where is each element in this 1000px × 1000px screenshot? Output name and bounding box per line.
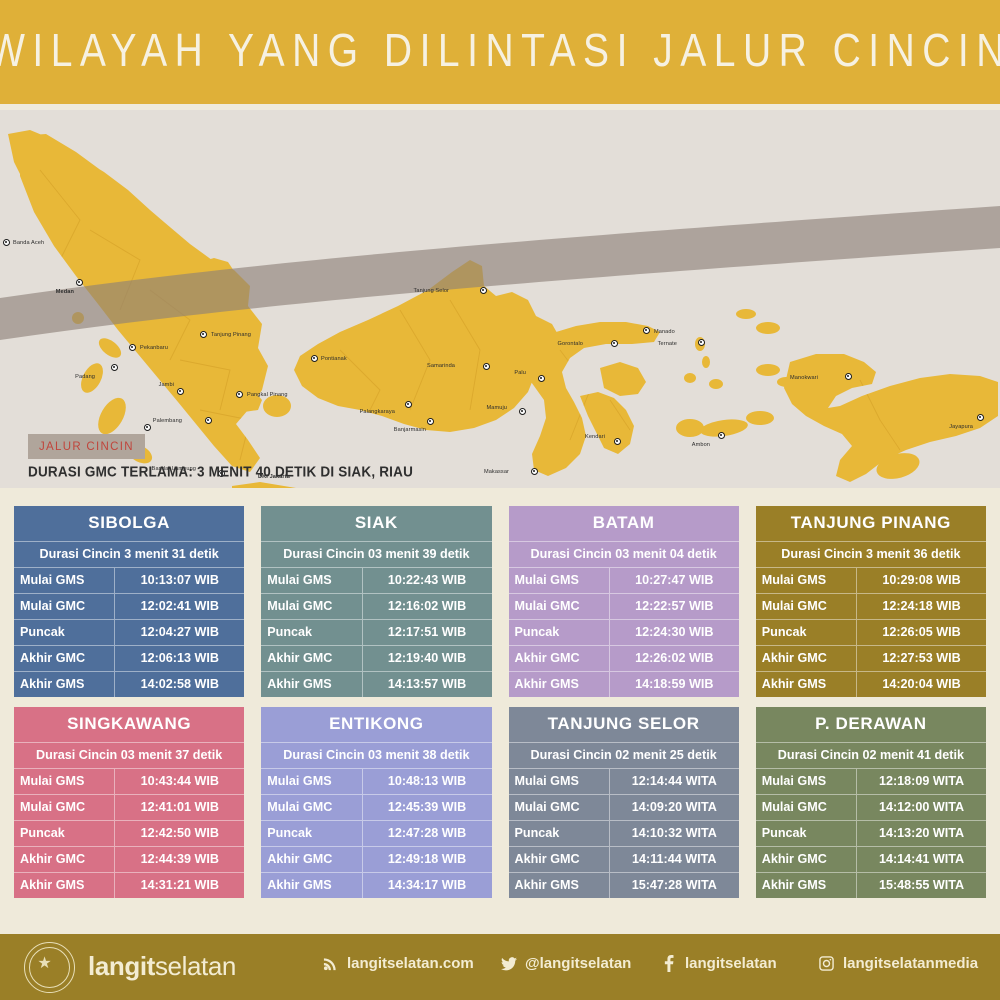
- city-timing-cards: SIBOLGADurasi Cincin 3 menit 31 detikMul…: [14, 506, 986, 898]
- table-row: Mulai GMS12:14:44 WITA: [509, 769, 739, 795]
- infographic-page: WILAYAH YANG DILINTASI JALUR CINCIN: [0, 0, 1000, 1000]
- table-row: Mulai GMC12:02:41 WIB: [14, 594, 244, 620]
- instagram-icon: [818, 955, 835, 972]
- row-label: Mulai GMS: [14, 568, 115, 593]
- city-pin: [177, 388, 184, 395]
- table-row: Mulai GMC14:12:00 WITA: [756, 795, 986, 821]
- city-pin: [538, 375, 545, 382]
- row-value: 14:20:04 WIB: [857, 672, 986, 697]
- city-pin: [519, 408, 526, 415]
- rss-icon: [322, 955, 339, 972]
- footer-link-facebook[interactable]: langitselatan: [660, 955, 777, 972]
- row-value: 12:17:51 WIB: [363, 620, 492, 645]
- row-label: Akhir GMS: [14, 672, 115, 697]
- row-value: 14:13:20 WITA: [857, 821, 986, 846]
- row-label: Akhir GMS: [756, 873, 857, 898]
- city-pin: [205, 417, 212, 424]
- page-header: WILAYAH YANG DILINTASI JALUR CINCIN: [0, 0, 1000, 104]
- city-card-duration: Durasi Cincin 03 menit 37 detik: [14, 743, 244, 769]
- city-label: Padang: [75, 374, 95, 380]
- row-label: Puncak: [509, 620, 610, 645]
- footer-link-twitter[interactable]: @langitselatan: [500, 955, 631, 972]
- row-value: 14:34:17 WIB: [363, 873, 492, 898]
- row-value: 15:47:28 WITA: [610, 873, 739, 898]
- city-pin: [76, 279, 83, 286]
- table-row: Mulai GMS10:22:43 WIB: [261, 568, 491, 594]
- row-label: Mulai GMC: [756, 594, 857, 619]
- city-pin: [311, 355, 318, 362]
- row-value: 12:16:02 WIB: [363, 594, 492, 619]
- row-value: 10:22:43 WIB: [363, 568, 492, 593]
- row-label: Mulai GMC: [14, 594, 115, 619]
- row-value: 12:14:44 WITA: [610, 769, 739, 794]
- footer-link-facebook-label: langitselatan: [685, 955, 777, 972]
- table-row: Mulai GMS10:13:07 WIB: [14, 568, 244, 594]
- row-value: 12:18:09 WITA: [857, 769, 986, 794]
- city-card-duration: Durasi Cincin 02 menit 25 detik: [509, 743, 739, 769]
- table-row: Akhir GMC12:44:39 WIB: [14, 847, 244, 873]
- city-label: Tanjung Pinang: [211, 332, 251, 338]
- row-value: 12:02:41 WIB: [115, 594, 244, 619]
- footer-link-website[interactable]: langitselatan.com: [322, 955, 474, 972]
- row-label: Mulai GMS: [509, 769, 610, 794]
- row-value: 12:06:13 WIB: [115, 646, 244, 671]
- row-value: 10:48:13 WIB: [363, 769, 492, 794]
- city-card-duration: Durasi Cincin 03 menit 04 detik: [509, 542, 739, 568]
- city-label: Pontianak: [321, 356, 347, 362]
- row-label: Puncak: [14, 620, 115, 645]
- row-value: 14:18:59 WIB: [610, 672, 739, 697]
- row-label: Akhir GMS: [509, 672, 610, 697]
- row-value: 12:45:39 WIB: [363, 795, 492, 820]
- city-label: Pangkal Pinang: [247, 392, 288, 398]
- city-label: Manado: [654, 329, 675, 335]
- row-value: 14:14:41 WITA: [857, 847, 986, 872]
- city-pin: [483, 363, 490, 370]
- city-label: Palembang: [153, 418, 182, 424]
- city-label: Banjarmasin: [394, 427, 426, 433]
- table-row: Mulai GMS10:27:47 WIB: [509, 568, 739, 594]
- city-pin: [845, 373, 852, 380]
- table-row: Akhir GMS14:02:58 WIB: [14, 672, 244, 697]
- row-value: 14:13:57 WIB: [363, 672, 492, 697]
- city-pin: [614, 438, 621, 445]
- row-value: 12:27:53 WIB: [857, 646, 986, 671]
- row-label: Puncak: [14, 821, 115, 846]
- row-label: Akhir GMC: [756, 847, 857, 872]
- table-row: Akhir GMS14:34:17 WIB: [261, 873, 491, 898]
- row-label: Akhir GMC: [14, 646, 115, 671]
- footer-link-instagram[interactable]: langitselatanmedia: [818, 955, 978, 972]
- footer-link-twitter-label: @langitselatan: [525, 955, 631, 972]
- city-label: Pekanbaru: [140, 345, 168, 351]
- table-row: Akhir GMS14:20:04 WIB: [756, 672, 986, 697]
- row-label: Akhir GMC: [509, 646, 610, 671]
- footer-link-website-label: langitselatan.com: [347, 955, 474, 972]
- row-label: Mulai GMC: [261, 594, 362, 619]
- table-row: Puncak12:42:50 WIB: [14, 821, 244, 847]
- row-value: 12:19:40 WIB: [363, 646, 492, 671]
- row-label: Mulai GMC: [509, 795, 610, 820]
- legend-jalur-cincin: JALUR CINCIN: [28, 434, 145, 459]
- row-label: Akhir GMC: [261, 646, 362, 671]
- city-label: Makassar: [484, 469, 509, 475]
- city-label: Palu: [514, 370, 526, 376]
- row-label: Akhir GMC: [14, 847, 115, 872]
- city-pin: [698, 339, 705, 346]
- city-card-title: TANJUNG PINANG: [756, 506, 986, 542]
- table-row: Akhir GMC12:19:40 WIB: [261, 646, 491, 672]
- brand-wordmark: langitselatan: [88, 951, 236, 982]
- city-card: BATAMDurasi Cincin 03 menit 04 detikMula…: [509, 506, 739, 697]
- table-row: Mulai GMS10:43:44 WIB: [14, 769, 244, 795]
- table-row: Mulai GMC12:16:02 WIB: [261, 594, 491, 620]
- city-card: P. DERAWANDurasi Cincin 02 menit 41 deti…: [756, 707, 986, 898]
- row-value: 12:42:50 WIB: [115, 821, 244, 846]
- city-label: Samarinda: [427, 363, 455, 369]
- city-card: SINGKAWANGDurasi Cincin 03 menit 37 deti…: [14, 707, 244, 898]
- brand-bold: langit: [88, 951, 155, 981]
- row-label: Puncak: [261, 620, 362, 645]
- city-pin: [718, 432, 725, 439]
- city-card-duration: Durasi Cincin 3 menit 36 detik: [756, 542, 986, 568]
- row-value: 14:09:20 WITA: [610, 795, 739, 820]
- row-label: Mulai GMC: [509, 594, 610, 619]
- facebook-icon: [660, 955, 677, 972]
- row-label: Puncak: [756, 821, 857, 846]
- city-label: Mamuju: [487, 405, 508, 411]
- brand-light: selatan: [155, 951, 236, 981]
- row-value: 12:49:18 WIB: [363, 847, 492, 872]
- table-row: Akhir GMC12:06:13 WIB: [14, 646, 244, 672]
- row-label: Puncak: [261, 821, 362, 846]
- legend-label: JALUR CINCIN: [39, 441, 134, 453]
- row-value: 12:04:27 WIB: [115, 620, 244, 645]
- row-label: Akhir GMS: [756, 672, 857, 697]
- row-value: 12:24:18 WIB: [857, 594, 986, 619]
- table-row: Puncak12:17:51 WIB: [261, 620, 491, 646]
- row-value: 10:13:07 WIB: [115, 568, 244, 593]
- map-container: Banda AcehMedanPekanbaruPadangJambiPalem…: [0, 110, 1000, 488]
- table-row: Puncak12:04:27 WIB: [14, 620, 244, 646]
- row-label: Akhir GMS: [14, 873, 115, 898]
- table-row: Akhir GMS14:31:21 WIB: [14, 873, 244, 898]
- table-row: Puncak12:24:30 WIB: [509, 620, 739, 646]
- table-row: Mulai GMC12:22:57 WIB: [509, 594, 739, 620]
- table-row: Akhir GMS14:18:59 WIB: [509, 672, 739, 697]
- city-card: ENTIKONGDurasi Cincin 03 menit 38 detikM…: [261, 707, 491, 898]
- city-label: Ambon: [692, 442, 710, 448]
- city-pin: [531, 468, 538, 475]
- row-label: Mulai GMS: [509, 568, 610, 593]
- city-label: Jayapura: [949, 424, 973, 430]
- row-label: Mulai GMS: [756, 568, 857, 593]
- city-pin: [236, 391, 243, 398]
- city-pin: [3, 239, 10, 246]
- table-row: Akhir GMC14:14:41 WITA: [756, 847, 986, 873]
- city-card-title: SIAK: [261, 506, 491, 542]
- city-card-title: SINGKAWANG: [14, 707, 244, 743]
- table-row: Akhir GMS15:48:55 WITA: [756, 873, 986, 898]
- table-row: Mulai GMC12:24:18 WIB: [756, 594, 986, 620]
- table-row: Mulai GMC12:41:01 WIB: [14, 795, 244, 821]
- city-card: SIBOLGADurasi Cincin 3 menit 31 detikMul…: [14, 506, 244, 697]
- city-card-title: P. DERAWAN: [756, 707, 986, 743]
- table-row: Mulai GMS10:29:08 WIB: [756, 568, 986, 594]
- city-label: Palangkaraya: [360, 409, 395, 415]
- map-subtitle: DURASI GMC TERLAMA: 3 MENIT 40 DETIK DI …: [28, 464, 413, 480]
- city-pin: [427, 418, 434, 425]
- row-value: 14:31:21 WIB: [115, 873, 244, 898]
- row-value: 14:02:58 WIB: [115, 672, 244, 697]
- table-row: Mulai GMS12:18:09 WITA: [756, 769, 986, 795]
- city-pin: [405, 401, 412, 408]
- table-row: Puncak12:26:05 WIB: [756, 620, 986, 646]
- row-label: Mulai GMS: [261, 568, 362, 593]
- row-label: Mulai GMS: [756, 769, 857, 794]
- city-card-title: BATAM: [509, 506, 739, 542]
- city-card-duration: Durasi Cincin 03 menit 38 detik: [261, 743, 491, 769]
- row-value: 14:12:00 WITA: [857, 795, 986, 820]
- row-label: Akhir GMC: [261, 847, 362, 872]
- row-label: Mulai GMS: [261, 769, 362, 794]
- indonesia-map: [0, 110, 1000, 488]
- row-value: 12:22:57 WIB: [610, 594, 739, 619]
- city-pin: [129, 344, 136, 351]
- city-card: TANJUNG PINANGDurasi Cincin 3 menit 36 d…: [756, 506, 986, 697]
- table-row: Puncak14:13:20 WITA: [756, 821, 986, 847]
- table-row: Akhir GMC12:26:02 WIB: [509, 646, 739, 672]
- row-label: Akhir GMS: [261, 672, 362, 697]
- row-value: 14:11:44 WITA: [610, 847, 739, 872]
- table-row: Akhir GMC12:49:18 WIB: [261, 847, 491, 873]
- footer-link-instagram-label: langitselatanmedia: [843, 955, 978, 972]
- city-card-title: SIBOLGA: [14, 506, 244, 542]
- city-label: Medan: [56, 289, 74, 295]
- city-card: SIAKDurasi Cincin 03 menit 39 detikMulai…: [261, 506, 491, 697]
- table-row: Puncak14:10:32 WITA: [509, 821, 739, 847]
- table-row: Mulai GMC12:45:39 WIB: [261, 795, 491, 821]
- row-value: 10:29:08 WIB: [857, 568, 986, 593]
- table-row: Akhir GMC12:27:53 WIB: [756, 646, 986, 672]
- city-card: TANJUNG SELORDurasi Cincin 02 menit 25 d…: [509, 707, 739, 898]
- row-label: Akhir GMS: [261, 873, 362, 898]
- table-row: Akhir GMC14:11:44 WITA: [509, 847, 739, 873]
- row-value: 10:43:44 WIB: [115, 769, 244, 794]
- row-value: 10:27:47 WIB: [610, 568, 739, 593]
- row-value: 15:48:55 WITA: [857, 873, 986, 898]
- row-value: 12:41:01 WIB: [115, 795, 244, 820]
- row-value: 12:26:02 WIB: [610, 646, 739, 671]
- city-pin: [977, 414, 984, 421]
- city-pin: [643, 327, 650, 334]
- city-card-duration: Durasi Cincin 03 menit 39 detik: [261, 542, 491, 568]
- city-label: Manokwari: [790, 375, 818, 381]
- city-pin: [111, 364, 118, 371]
- row-label: Akhir GMC: [509, 847, 610, 872]
- row-value: 12:47:28 WIB: [363, 821, 492, 846]
- city-pin: [611, 340, 618, 347]
- city-label: Kendari: [585, 434, 605, 440]
- city-pin: [144, 424, 151, 431]
- row-label: Akhir GMC: [756, 646, 857, 671]
- city-pin: [200, 331, 207, 338]
- row-value: 12:44:39 WIB: [115, 847, 244, 872]
- table-row: Mulai GMC14:09:20 WITA: [509, 795, 739, 821]
- city-pin: [480, 287, 487, 294]
- seal-emblem-icon: ★: [36, 955, 53, 972]
- langitselatan-seal-logo: ★: [24, 942, 75, 993]
- city-label: Tanjung Selor: [413, 288, 449, 294]
- row-label: Puncak: [509, 821, 610, 846]
- city-card-duration: Durasi Cincin 02 menit 41 detik: [756, 743, 986, 769]
- table-row: Puncak12:47:28 WIB: [261, 821, 491, 847]
- city-card-title: TANJUNG SELOR: [509, 707, 739, 743]
- city-label: Ternate: [658, 341, 677, 347]
- row-value: 12:26:05 WIB: [857, 620, 986, 645]
- city-label: Jambi: [159, 382, 174, 388]
- row-label: Akhir GMS: [509, 873, 610, 898]
- row-value: 12:24:30 WIB: [610, 620, 739, 645]
- table-row: Mulai GMS10:48:13 WIB: [261, 769, 491, 795]
- row-label: Mulai GMS: [14, 769, 115, 794]
- city-label: Gorontalo: [558, 341, 583, 347]
- row-label: Mulai GMC: [14, 795, 115, 820]
- row-value: 14:10:32 WITA: [610, 821, 739, 846]
- city-card-duration: Durasi Cincin 3 menit 31 detik: [14, 542, 244, 568]
- page-title: WILAYAH YANG DILINTASI JALUR CINCIN: [0, 26, 1000, 78]
- row-label: Mulai GMC: [756, 795, 857, 820]
- city-label: Banda Aceh: [13, 240, 44, 246]
- row-label: Mulai GMC: [261, 795, 362, 820]
- twitter-icon: [500, 955, 517, 972]
- city-card-title: ENTIKONG: [261, 707, 491, 743]
- table-row: Akhir GMS14:13:57 WIB: [261, 672, 491, 697]
- table-row: Akhir GMS15:47:28 WITA: [509, 873, 739, 898]
- row-label: Puncak: [756, 620, 857, 645]
